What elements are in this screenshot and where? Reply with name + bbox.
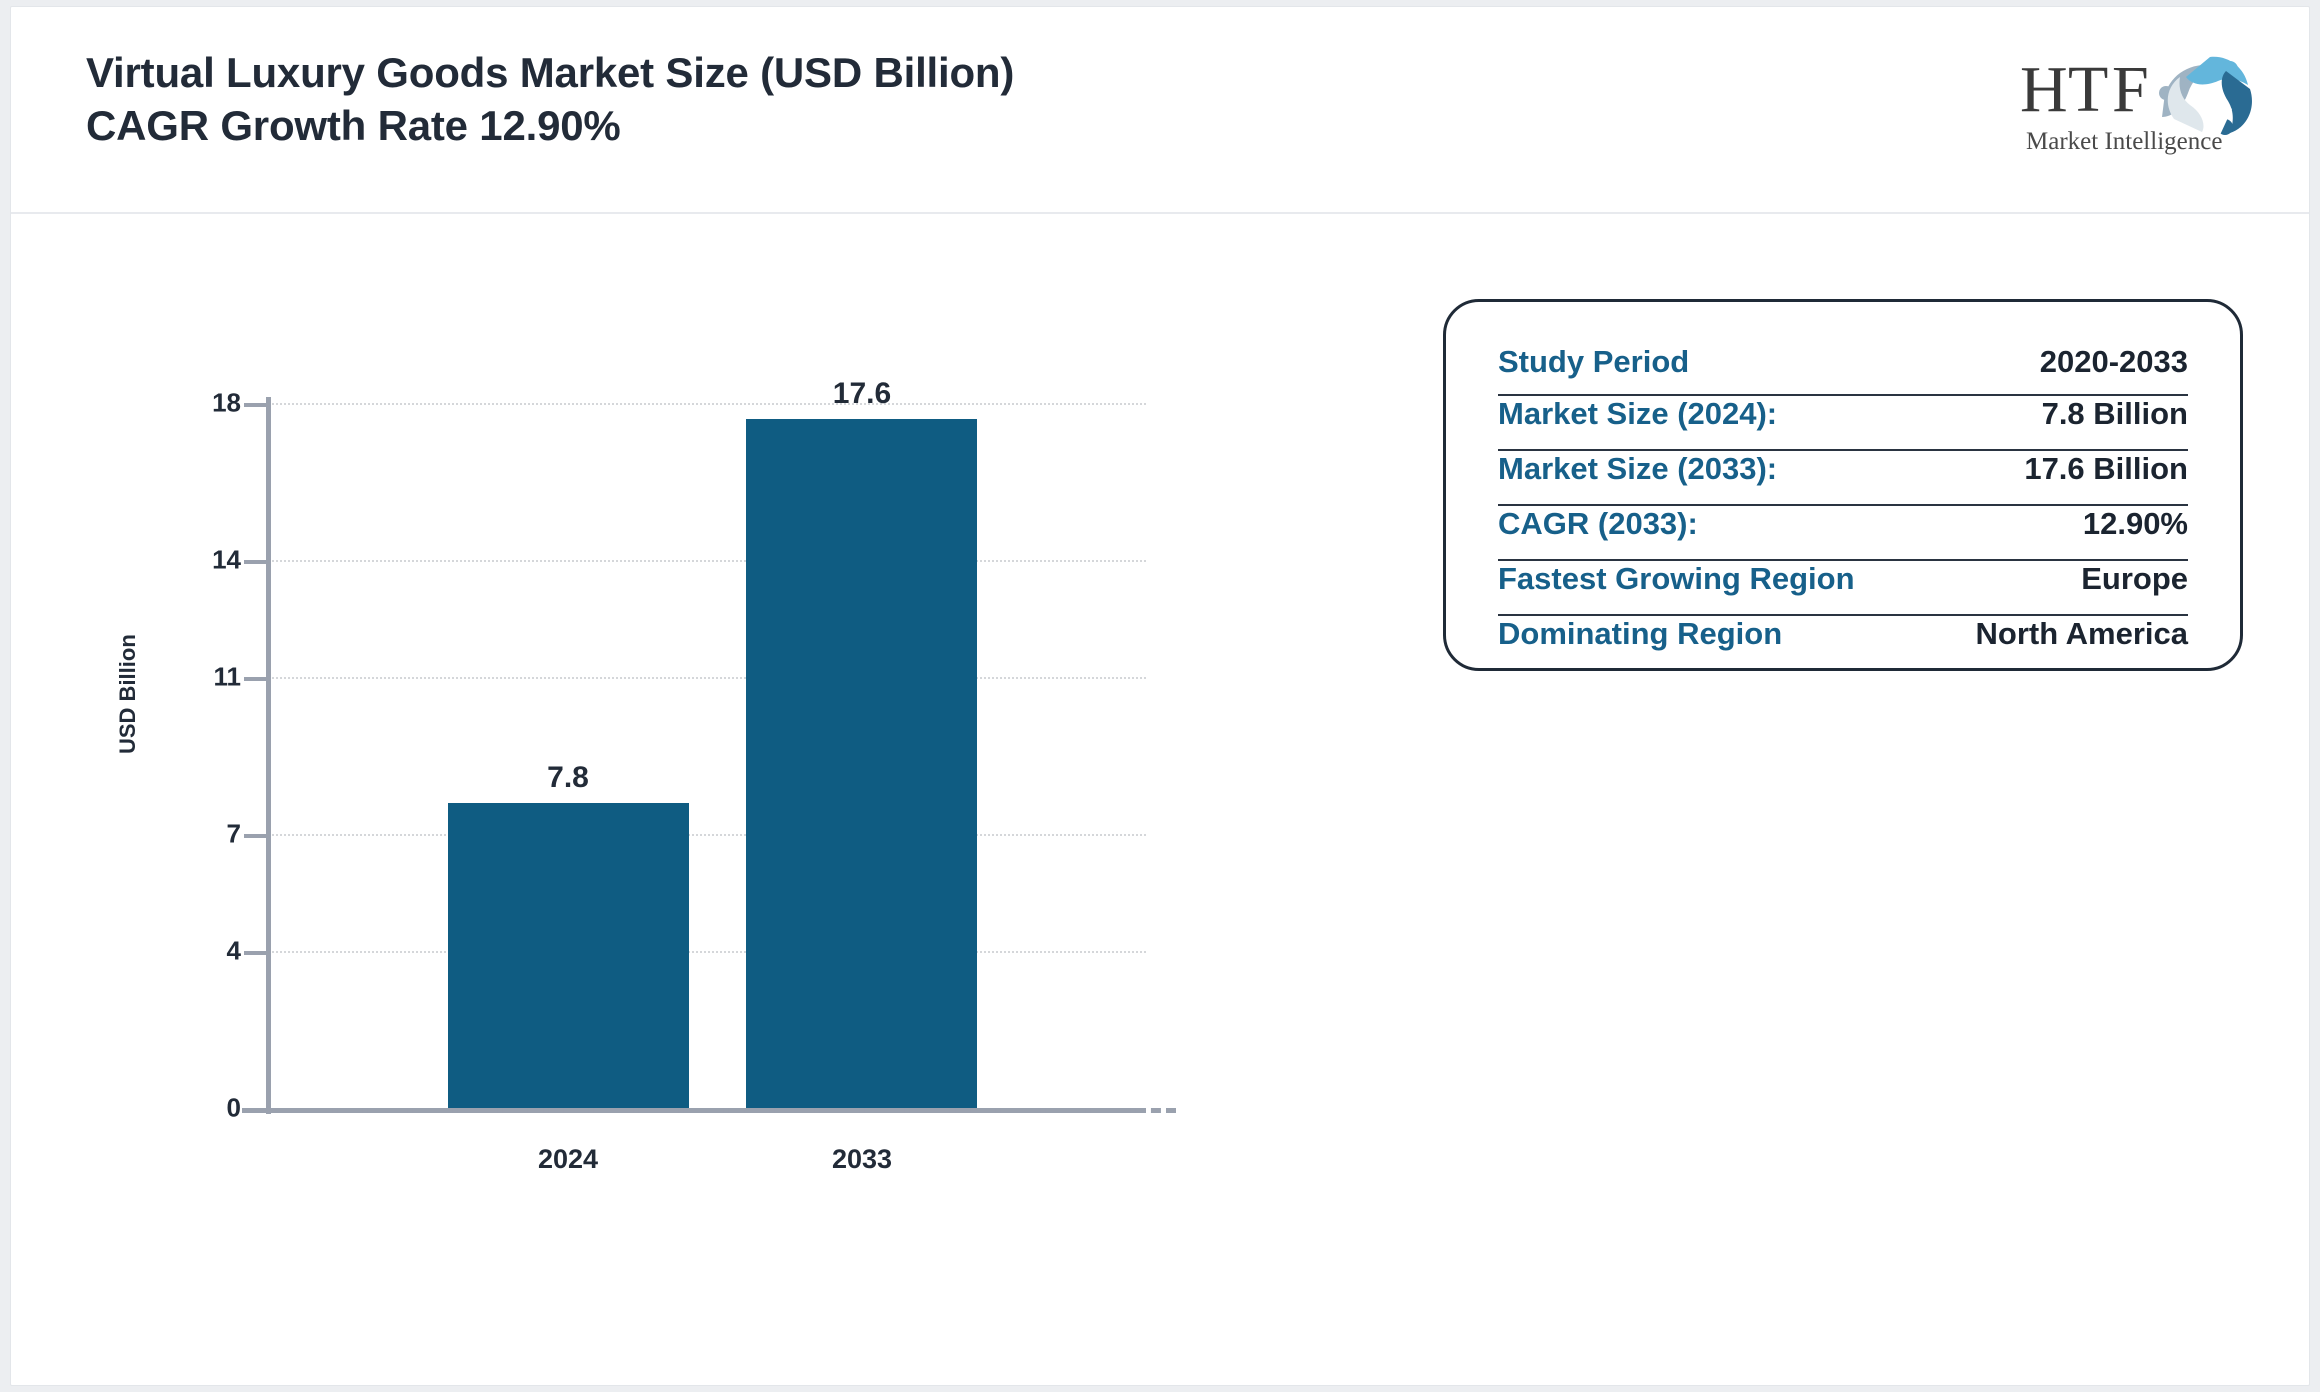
svg-text:H: H — [2020, 53, 2068, 126]
chart-card: Virtual Luxury Goods Market Size (USD Bi… — [10, 6, 2310, 1386]
y-tick-mark-14 — [244, 560, 266, 564]
y-tick-mark-18 — [244, 403, 266, 407]
htf-logo: H T F Market Intelligence — [2014, 39, 2264, 157]
table-row-market-size-2033: Market Size (2033): 17.6 Billion — [1498, 451, 2188, 506]
y-tick-mark-4 — [244, 951, 266, 955]
y-tick-label-0: 0 — [227, 1093, 241, 1124]
table-row-fastest-growing-region: Fastest Growing Region Europe — [1498, 561, 2188, 616]
y-tick-mark-7 — [244, 834, 266, 838]
bar-value-2033: 17.6 — [833, 377, 891, 411]
row-label: Market Size (2024): — [1498, 396, 1777, 432]
row-label: Market Size (2033): — [1498, 451, 1777, 487]
plot-area: 7.8 17.6 — [272, 403, 1146, 1108]
x-tick-label-2033: 2033 — [832, 1144, 892, 1175]
y-axis-tick-labels: 0 4 7 11 14 18 — [191, 403, 241, 1108]
logo-tagline-text: Market Intelligence — [2026, 128, 2222, 155]
y-tick-label-4: 4 — [227, 936, 241, 967]
htf-swirl-icon — [2159, 57, 2252, 139]
row-label: CAGR (2033): — [1498, 506, 1698, 542]
row-label: Fastest Growing Region — [1498, 561, 1855, 597]
row-label: Dominating Region — [1498, 616, 1782, 652]
title-line-1: Virtual Luxury Goods Market Size (USD Bi… — [86, 47, 1014, 100]
bar-2024[interactable] — [448, 803, 689, 1109]
y-tick-label-14: 14 — [212, 544, 241, 575]
row-value: North America — [1976, 616, 2188, 652]
gridline-18 — [272, 403, 1146, 405]
gridline-11 — [272, 677, 1146, 679]
x-axis-dashed-line — [307, 1108, 1176, 1113]
row-value: 7.8 Billion — [2042, 396, 2188, 432]
y-tick-label-11: 11 — [214, 662, 242, 693]
row-value: Europe — [2081, 561, 2188, 597]
svg-text:T: T — [2068, 53, 2108, 126]
bar-value-2024: 7.8 — [547, 761, 589, 795]
bar-chart: USD Billion 0 4 7 11 14 18 — [11, 214, 1411, 1387]
table-row-market-size-2024: Market Size (2024): 7.8 Billion — [1498, 396, 2188, 451]
htf-wordmark-glyphs: H T F — [2020, 53, 2149, 126]
y-tick-mark-11 — [244, 677, 266, 681]
table-row-study-period: Study Period 2020-2033 — [1498, 344, 2188, 396]
row-value: 12.90% — [2083, 506, 2188, 542]
x-tick-label-2024: 2024 — [538, 1144, 598, 1175]
row-value: 2020-2033 — [2040, 344, 2188, 380]
gridline-4 — [272, 951, 1146, 953]
bar-2033[interactable] — [746, 419, 977, 1108]
table-row-dominating-region: Dominating Region North America — [1498, 616, 2188, 671]
row-label: Study Period — [1498, 344, 1689, 380]
svg-text:F: F — [2112, 53, 2149, 126]
market-summary-panel: Study Period 2020-2033 Market Size (2024… — [1443, 299, 2243, 671]
y-axis-line — [266, 397, 271, 1114]
title-line-2: CAGR Growth Rate 12.90% — [86, 100, 1014, 153]
y-axis-title: USD Billion — [115, 634, 141, 754]
y-tick-label-18: 18 — [212, 388, 241, 419]
gridline-7 — [272, 834, 1146, 836]
card-header: Virtual Luxury Goods Market Size (USD Bi… — [11, 7, 2309, 214]
row-value: 17.6 Billion — [2024, 451, 2188, 487]
y-tick-label-7: 7 — [227, 818, 241, 849]
table-row-cagr-2033: CAGR (2033): 12.90% — [1498, 506, 2188, 561]
page-title: Virtual Luxury Goods Market Size (USD Bi… — [86, 47, 1014, 152]
gridline-14 — [272, 560, 1146, 562]
